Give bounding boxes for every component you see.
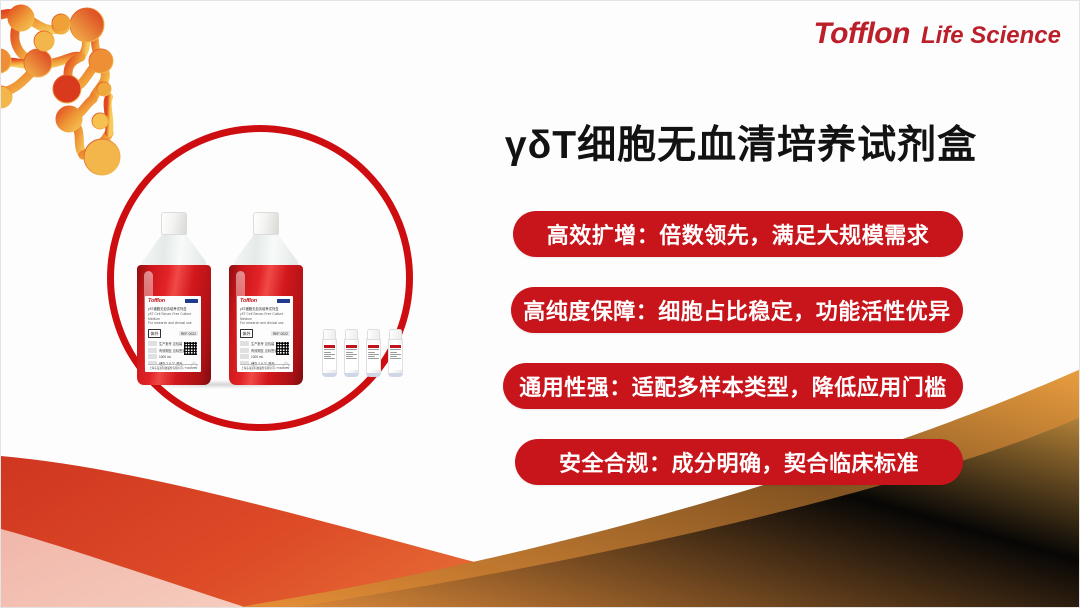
label-ce-mark <box>185 299 198 303</box>
vial-label <box>389 344 402 370</box>
vial-label-text <box>324 349 335 359</box>
label-product-en: γδT Cell Serum-Free Culture Medium <box>240 312 290 322</box>
bottle-body: Tofflon γδT细胞无血清培养试剂盒 γδT Cell Serum-Fre… <box>229 265 303 385</box>
feature-pill-4: 安全合规：成分明确，契合临床标准 <box>515 439 963 485</box>
vial-label-text <box>390 349 401 359</box>
label-brand: Tofflon <box>240 299 257 305</box>
label-ref-code: REF 0022 <box>179 331 198 336</box>
label-footer: 上海东富龙科技股份有限公司 / TOFFLON <box>240 364 290 370</box>
label-brand: Tofflon <box>148 299 165 305</box>
product-photo: Tofflon γδT细胞无血清培养试剂盒 γδT Cell Serum-Fre… <box>107 125 413 431</box>
label-row-tag <box>148 354 157 359</box>
media-bottle: Tofflon γδT细胞无血清培养试剂盒 γδT Cell Serum-Fre… <box>229 212 303 385</box>
cryovial <box>388 329 403 377</box>
label-row: 1000 mL <box>148 354 198 359</box>
label-row-value: 生产批号 见包装 <box>159 341 182 346</box>
vial-cap <box>323 329 336 340</box>
vial-label-text <box>346 349 357 359</box>
vial-label-strip <box>346 345 357 348</box>
vial-cap <box>367 329 380 340</box>
label-row-tag <box>240 348 249 353</box>
vial-base <box>322 373 337 377</box>
page-title: γδT细胞无血清培养试剂盒 <box>471 114 1011 170</box>
label-row-value: 1000 mL <box>251 355 263 359</box>
label-row: 1000 mL <box>240 354 290 359</box>
label-footer: 上海东富龙科技股份有限公司 / TOFFLON <box>148 364 198 370</box>
label-ivd-box: 体外 <box>148 329 161 338</box>
feature-pill-3: 通用性强：适配多样本类型，降低应用门槛 <box>503 363 963 409</box>
label-row-tag <box>148 348 157 353</box>
label-product-note: For research and clinical use <box>240 321 290 326</box>
label-ref-code: REF 0022 <box>271 331 290 336</box>
label-ce-mark <box>277 299 290 303</box>
vial-cap <box>345 329 358 340</box>
cryovial <box>344 329 359 377</box>
vial-base <box>388 373 403 377</box>
qr-code-icon <box>184 342 197 355</box>
vial-label <box>345 344 358 370</box>
label-row-tag <box>240 354 249 359</box>
brand-tagline: Life Science <box>921 22 1061 50</box>
label-product-en: γδT Cell Serum-Free Culture Medium <box>148 312 198 322</box>
vial-label-strip <box>390 345 401 348</box>
bottle-label: Tofflon γδT细胞无血清培养试剂盒 γδT Cell Serum-Fre… <box>237 296 293 372</box>
product-group: Tofflon γδT细胞无血清培养试剂盒 γδT Cell Serum-Fre… <box>119 195 409 385</box>
vial-label <box>367 344 380 370</box>
vial-cap <box>389 329 402 340</box>
brand-name: Tofflon <box>813 17 909 51</box>
molecule-decoration-icon <box>1 5 120 175</box>
bottle-body: Tofflon γδT细胞无血清培养试剂盒 γδT Cell Serum-Fre… <box>137 265 211 385</box>
vial-label-strip <box>324 345 335 348</box>
bottle-cap <box>161 212 187 235</box>
label-ivd-box: 体外 <box>240 329 253 338</box>
feature-pill-1: 高效扩增：倍数领先，满足大规模需求 <box>513 211 963 257</box>
label-row-value: 生产批号 见包装 <box>251 341 274 346</box>
media-bottle: Tofflon γδT细胞无血清培养试剂盒 γδT Cell Serum-Fre… <box>137 212 211 385</box>
brand-logo: Tofflon Life Science <box>813 17 1061 51</box>
bottle-cap <box>253 212 279 235</box>
vial-base <box>366 373 381 377</box>
bottle-label: Tofflon γδT细胞无血清培养试剂盒 γδT Cell Serum-Fre… <box>145 296 201 372</box>
vial-label-text <box>368 349 379 359</box>
label-row-tag <box>148 341 157 346</box>
feature-pill-2: 高纯度保障：细胞占比稳定，功能活性优异 <box>511 287 963 333</box>
label-row-value: 1000 mL <box>159 355 171 359</box>
qr-code-icon <box>276 342 289 355</box>
vial-label-strip <box>368 345 379 348</box>
vial-base <box>344 373 359 377</box>
pink-ribbon-decoration <box>1 501 621 608</box>
cryovial <box>366 329 381 377</box>
label-product-note: For research and clinical use <box>148 321 198 326</box>
vial-label <box>323 344 336 370</box>
cryovial <box>322 329 337 377</box>
label-row-tag <box>240 341 249 346</box>
slide-canvas: Tofflon Life Science γδT细胞无血清培养试剂盒 高效扩增：… <box>0 0 1080 608</box>
